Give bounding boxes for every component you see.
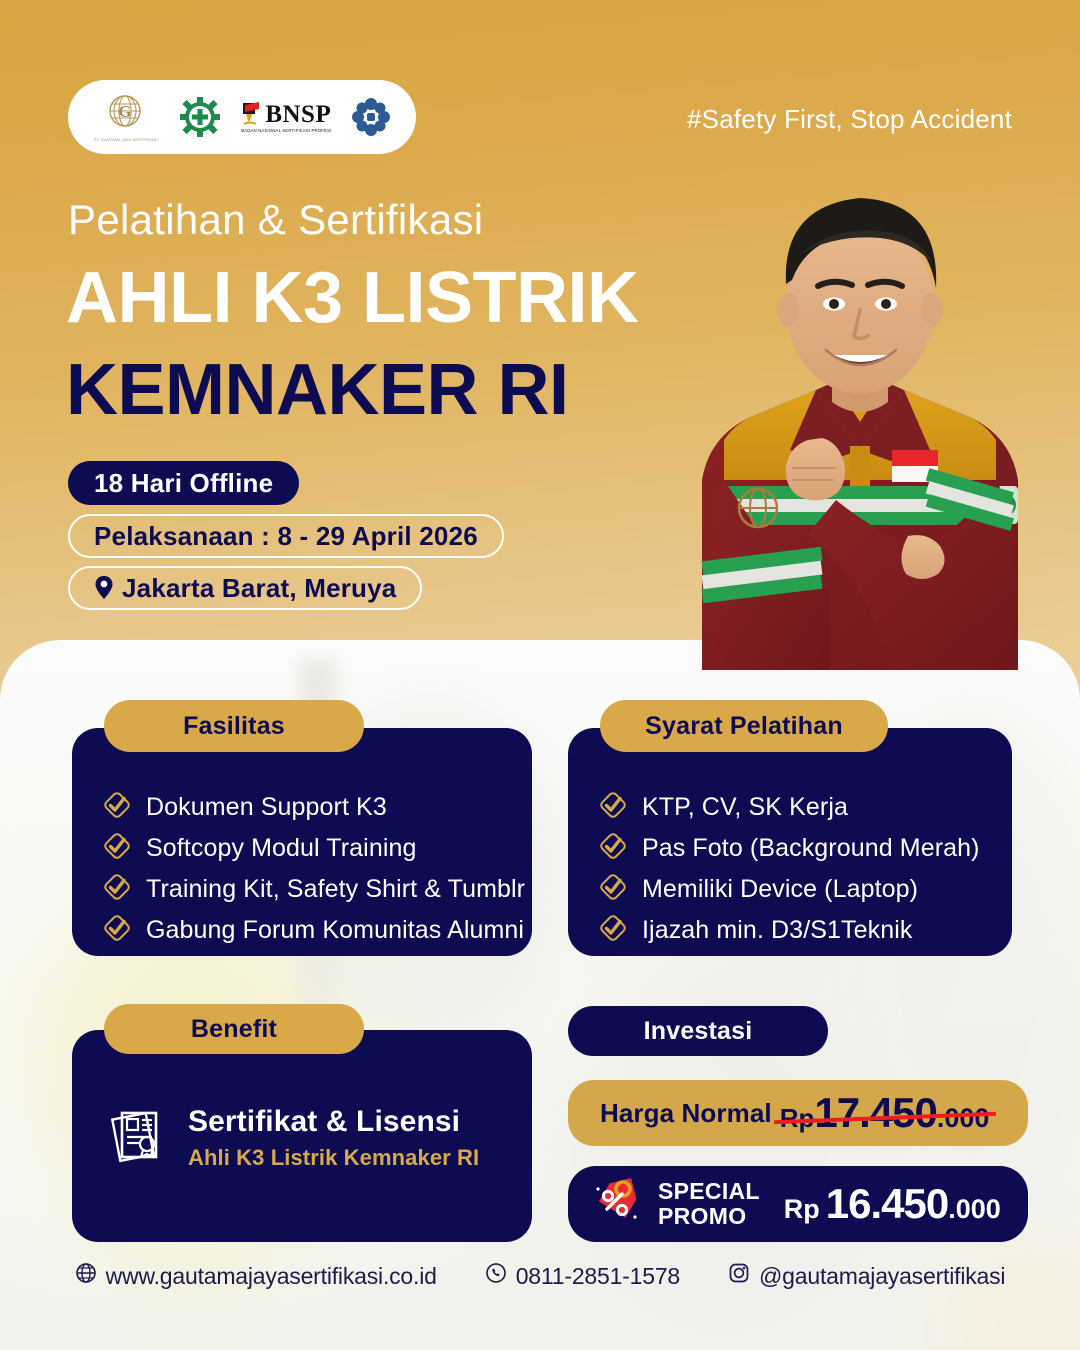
benefit-card: Sertifikat & Lisensi Ahli K3 Listrik Kem… [72, 1030, 532, 1242]
discount-tag-icon [590, 1173, 644, 1236]
investasi-tab: Investasi [568, 1006, 828, 1056]
list-item: Gabung Forum Komunitas Alumni [102, 913, 525, 948]
instructor-photo [640, 150, 1080, 670]
list-item: Training Kit, Safety Shirt & Tumblr [102, 872, 525, 907]
list-item-label: Softcopy Modul Training [146, 834, 417, 863]
instagram-icon [728, 1262, 750, 1290]
list-item-label: Pas Foto (Background Merah) [642, 834, 980, 863]
fasilitas-tab: Fasilitas [104, 700, 364, 752]
currency-symbol: Rp [784, 1194, 820, 1225]
fasilitas-tab-label: Fasilitas [183, 712, 285, 741]
promo-poster: G PT. GAUTAMA JAYA SERTIFIKASI [0, 0, 1080, 1350]
promo-label: SPECIAL PROMO [658, 1179, 760, 1229]
list-item-label: Dokumen Support K3 [146, 793, 387, 822]
list-item: Softcopy Modul Training [102, 831, 525, 866]
footer-website-label: www.gautamajayasertifikasi.co.id [106, 1263, 437, 1290]
list-item: Memiliki Device (Laptop) [598, 872, 980, 907]
footer-website[interactable]: www.gautamajayasertifikasi.co.id [75, 1262, 437, 1290]
phone-icon [485, 1262, 507, 1290]
bnsp-wordmark: BNSP [265, 102, 331, 127]
page-title-line2: KEMNAKER RI [66, 354, 569, 426]
logo-caption: BADAN NASIONAL SERTIFIKASI PROFESI [241, 128, 331, 133]
footer-instagram-label: @gautamajayasertifikasi [759, 1263, 1005, 1290]
syarat-list: KTP, CV, SK Kerja Pas Foto (Background M… [598, 790, 980, 948]
list-item: Ijazah min. D3/S1Teknik [598, 913, 980, 948]
benefit-title: Sertifikat & Lisensi [188, 1105, 479, 1139]
benefit-tab: Benefit [104, 1004, 364, 1054]
list-item: KTP, CV, SK Kerja [598, 790, 980, 825]
list-item: Dokumen Support K3 [102, 790, 525, 825]
location-badge: Jakarta Barat, Meruya [68, 566, 422, 610]
normal-price-value: Rp 17.450 .000 [780, 1089, 990, 1137]
syarat-card: KTP, CV, SK Kerja Pas Foto (Background M… [568, 728, 1012, 956]
list-item-label: Memiliki Device (Laptop) [642, 875, 918, 904]
list-item-label: Training Kit, Safety Shirt & Tumblr [146, 875, 525, 904]
normal-price-row: Harga Normal Rp 17.450 .000 [568, 1080, 1028, 1146]
normal-price-amount: 17.450 [814, 1089, 936, 1137]
page-title-line1: AHLI K3 LISTRIK [66, 262, 639, 334]
check-diamond-icon [598, 790, 628, 825]
k3-gear-logo [178, 95, 222, 139]
syarat-tab-label: Syarat Pelatihan [645, 712, 843, 741]
check-diamond-icon [102, 831, 132, 866]
list-item-label: KTP, CV, SK Kerja [642, 793, 848, 822]
footer-instagram[interactable]: @gautamajayasertifikasi [728, 1262, 1005, 1290]
check-diamond-icon [598, 872, 628, 907]
list-item: Pas Foto (Background Merah) [598, 831, 980, 866]
normal-price-decimals: .000 [937, 1103, 990, 1134]
benefit-tab-label: Benefit [191, 1015, 277, 1044]
pre-title: Pelatihan & Sertifikasi [68, 196, 483, 244]
check-diamond-icon [102, 872, 132, 907]
map-pin-icon [94, 575, 114, 601]
check-diamond-icon [102, 790, 132, 825]
footer-phone[interactable]: 0811-2851-1578 [485, 1262, 680, 1290]
promo-label-line1: SPECIAL [658, 1178, 760, 1204]
tagline-hashtag: #Safety First, Stop Accident [687, 104, 1012, 135]
bnsp-logo: BNSP BADAN NASIONAL SERTIFIKASI PROFESI [241, 101, 331, 133]
list-item-label: Ijazah min. D3/S1Teknik [642, 916, 912, 945]
investasi-tab-label: Investasi [644, 1017, 753, 1046]
location-badge-label: Jakarta Barat, Meruya [122, 573, 396, 604]
footer-phone-label: 0811-2851-1578 [516, 1263, 680, 1290]
duration-badge: 18 Hari Offline [68, 461, 299, 505]
logo-caption: PT. GAUTAMA JAYA SERTIFIKASI [93, 137, 157, 142]
benefit-subtitle: Ahli K3 Listrik Kemnaker RI [188, 1145, 479, 1171]
accreditation-logo-bar: G PT. GAUTAMA JAYA SERTIFIKASI [68, 80, 416, 154]
promo-price-amount: 16.450 [826, 1180, 948, 1228]
fasilitas-list: Dokumen Support K3 Softcopy Modul Traini… [102, 790, 525, 948]
promo-label-line2: PROMO [658, 1203, 746, 1229]
gautama-jaya-sertifikasi-logo: G PT. GAUTAMA JAYA SERTIFIKASI [92, 92, 160, 142]
footer-contact-bar: www.gautamajayasertifikasi.co.id 0811-28… [0, 1262, 1080, 1290]
date-badge-label: Pelaksanaan : 8 - 29 April 2026 [94, 521, 478, 552]
duration-badge-label: 18 Hari Offline [94, 468, 273, 499]
check-diamond-icon [598, 831, 628, 866]
syarat-tab: Syarat Pelatihan [600, 700, 888, 752]
promo-price-decimals: .000 [948, 1194, 1001, 1225]
globe-icon [75, 1262, 97, 1290]
normal-price-label: Harga Normal [600, 1098, 772, 1129]
benefit-content: Sertifikat & Lisensi Ahli K3 Listrik Kem… [106, 1104, 479, 1171]
kemnaker-logo [350, 96, 392, 138]
list-item-label: Gabung Forum Komunitas Alumni [146, 916, 524, 945]
fasilitas-card: Dokumen Support K3 Softcopy Modul Traini… [72, 728, 532, 956]
date-badge: Pelaksanaan : 8 - 29 April 2026 [68, 514, 504, 558]
svg-text:G: G [119, 102, 132, 121]
check-diamond-icon [598, 913, 628, 948]
promo-price-value: Rp 16.450 .000 [784, 1180, 1001, 1228]
promo-price-row: SPECIAL PROMO Rp 16.450 .000 [568, 1166, 1028, 1242]
check-diamond-icon [102, 913, 132, 948]
certificate-icon [106, 1104, 168, 1171]
